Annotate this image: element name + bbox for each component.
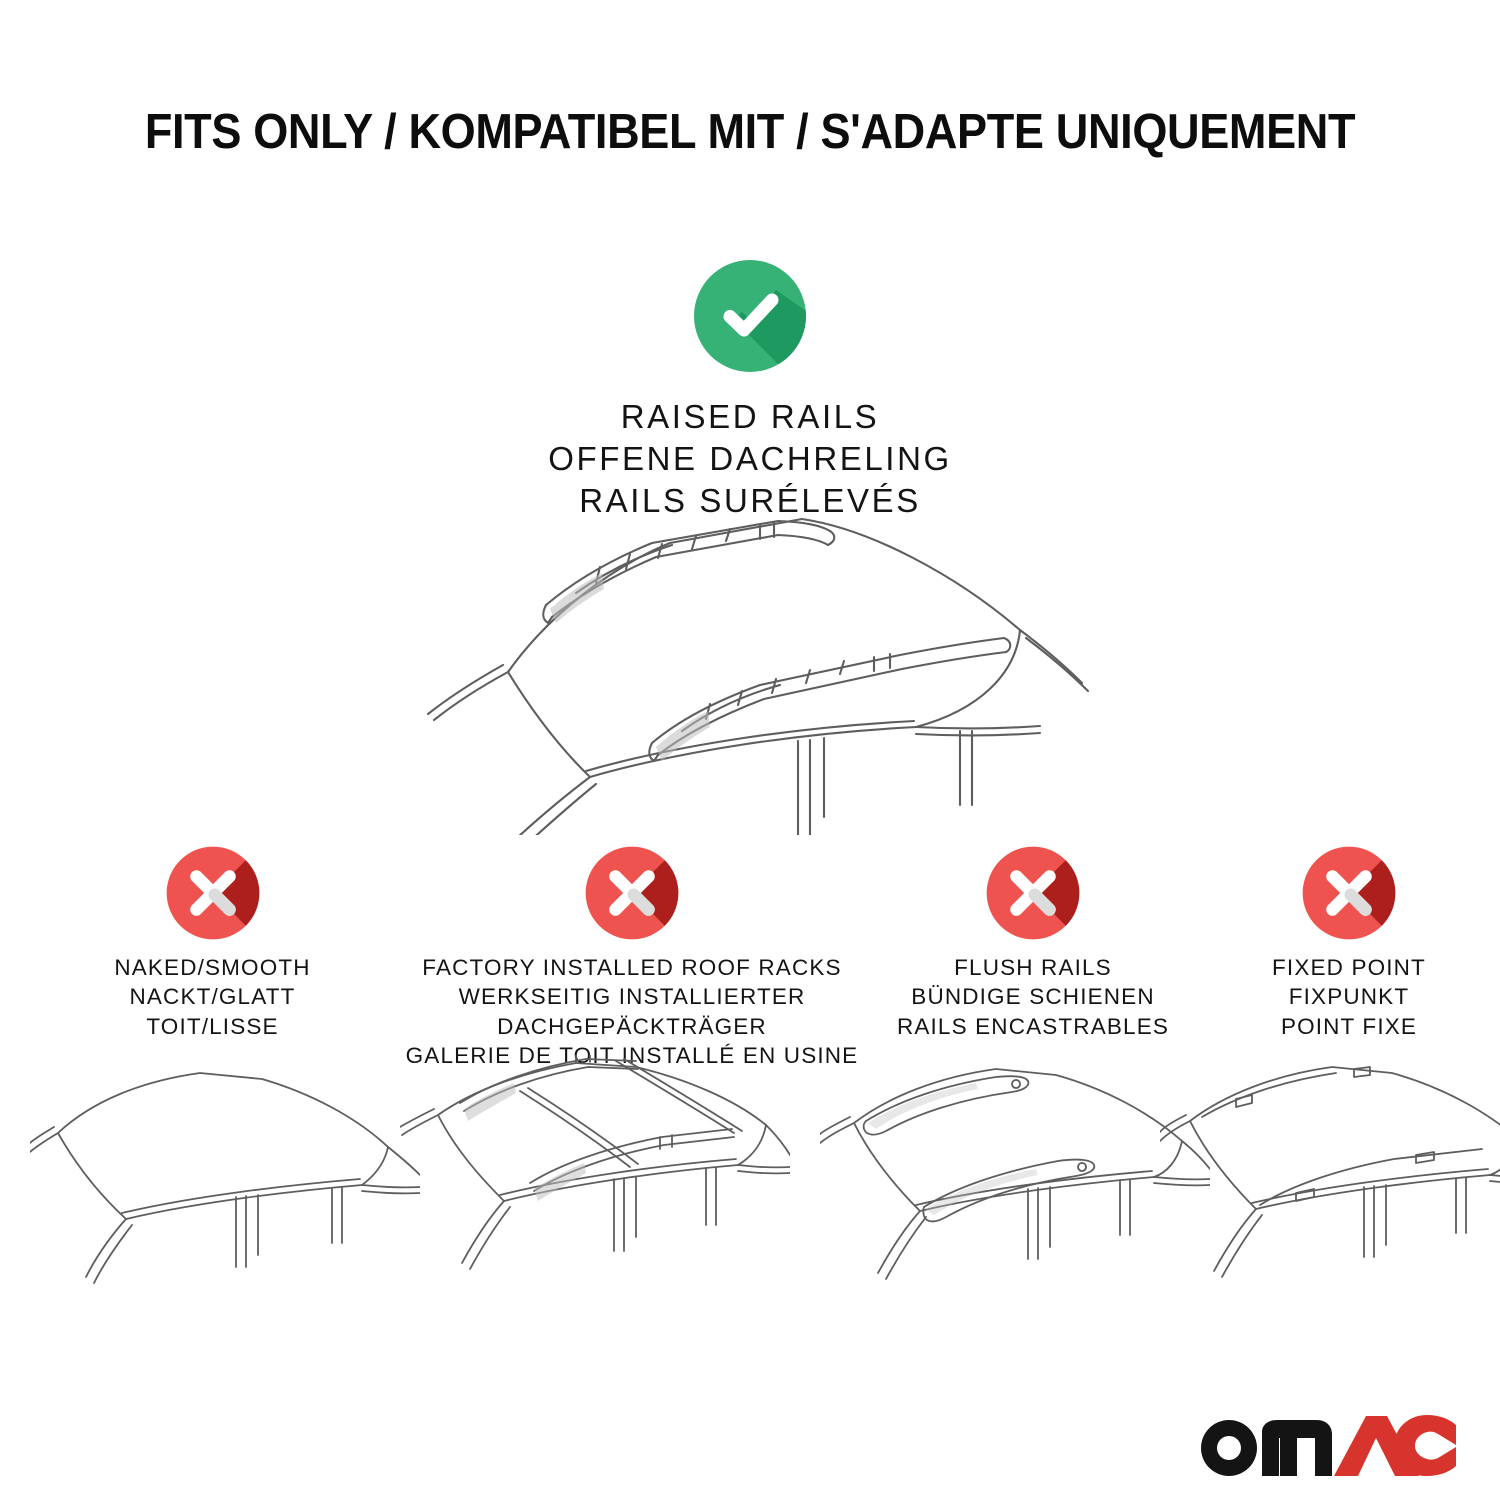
incompatible-naked-label-en: NAKED/SMOOTH [40,953,385,982]
car-roof-fixed-point-illustration [1160,1055,1500,1305]
bottom-illustration-row [0,1055,1500,1305]
incompatible-labels-flush: FLUSH RAILS BÜNDIGE SCHIENEN RAILS ENCAS… [862,953,1204,1041]
x-icon-wrap-fixed [1204,845,1494,953]
incompatible-fixed-label-de: FIXPUNKT [1204,982,1494,1011]
logo-letter-m [1262,1420,1332,1476]
incompatible-labels-fixed: FIXED POINT FIXPUNKT POINT FIXE [1204,953,1494,1041]
red-x-icon [985,845,1081,941]
incompatible-fixed-label-fr: POINT FIXE [1204,1012,1494,1041]
x-icon-wrap-flush [862,845,1204,953]
red-x-icon [584,845,680,941]
x-icon-wrap-naked [40,845,385,953]
compatible-section: RAISED RAILS OFFENE DACHRELING RAILS SUR… [0,258,1500,522]
logo-letter-o [1201,1420,1257,1476]
car-roof-raised-rails-illustration [400,505,1100,835]
incompatible-factory-label-en: FACTORY INSTALLED ROOF RACKS [392,953,872,982]
incompatible-factory-label-de-2: DACHGEPÄCKTRÄGER [392,1012,872,1041]
page-title: FITS ONLY / KOMPATIBEL MIT / S'ADAPTE UN… [60,104,1440,160]
omac-logo: OMAC [1198,1414,1458,1476]
red-x-icon [165,845,261,941]
incompatible-factory-label-de-1: WERKSEITIG INSTALLIERTER [392,982,872,1011]
x-icon-wrap-factory [392,845,872,953]
green-check-icon [692,258,808,374]
compatible-labels: RAISED RAILS OFFENE DACHRELING RAILS SUR… [0,396,1500,522]
incompatible-naked-label-fr: TOIT/LISSE [40,1012,385,1041]
logo-letter-c [1394,1415,1456,1476]
car-roof-flush-rails-illustration [820,1055,1210,1305]
red-x-icon [1301,845,1397,941]
incompatible-flush-label-de: BÜNDIGE SCHIENEN [862,982,1204,1011]
compatible-label-en: RAISED RAILS [0,396,1500,438]
compatible-label-de: OFFENE DACHRELING [0,438,1500,480]
incompatible-item-fixed: FIXED POINT FIXPUNKT POINT FIXE [1204,845,1494,1041]
incompatible-flush-label-fr: RAILS ENCASTRABLES [862,1012,1204,1041]
incompatible-flush-label-en: FLUSH RAILS [862,953,1204,982]
incompatible-naked-label-de: NACKT/GLATT [40,982,385,1011]
incompatible-labels-naked: NAKED/SMOOTH NACKT/GLATT TOIT/LISSE [40,953,385,1041]
incompatible-item-flush: FLUSH RAILS BÜNDIGE SCHIENEN RAILS ENCAS… [862,845,1204,1041]
car-roof-factory-racks-illustration [400,1055,790,1305]
incompatible-labels-factory: FACTORY INSTALLED ROOF RACKS WERKSEITIG … [392,953,872,1070]
incompatible-fixed-label-en: FIXED POINT [1204,953,1494,982]
car-roof-naked-illustration [30,1055,420,1305]
incompatible-item-factory: FACTORY INSTALLED ROOF RACKS WERKSEITIG … [392,845,872,1070]
incompatible-item-naked: NAKED/SMOOTH NACKT/GLATT TOIT/LISSE [40,845,385,1041]
